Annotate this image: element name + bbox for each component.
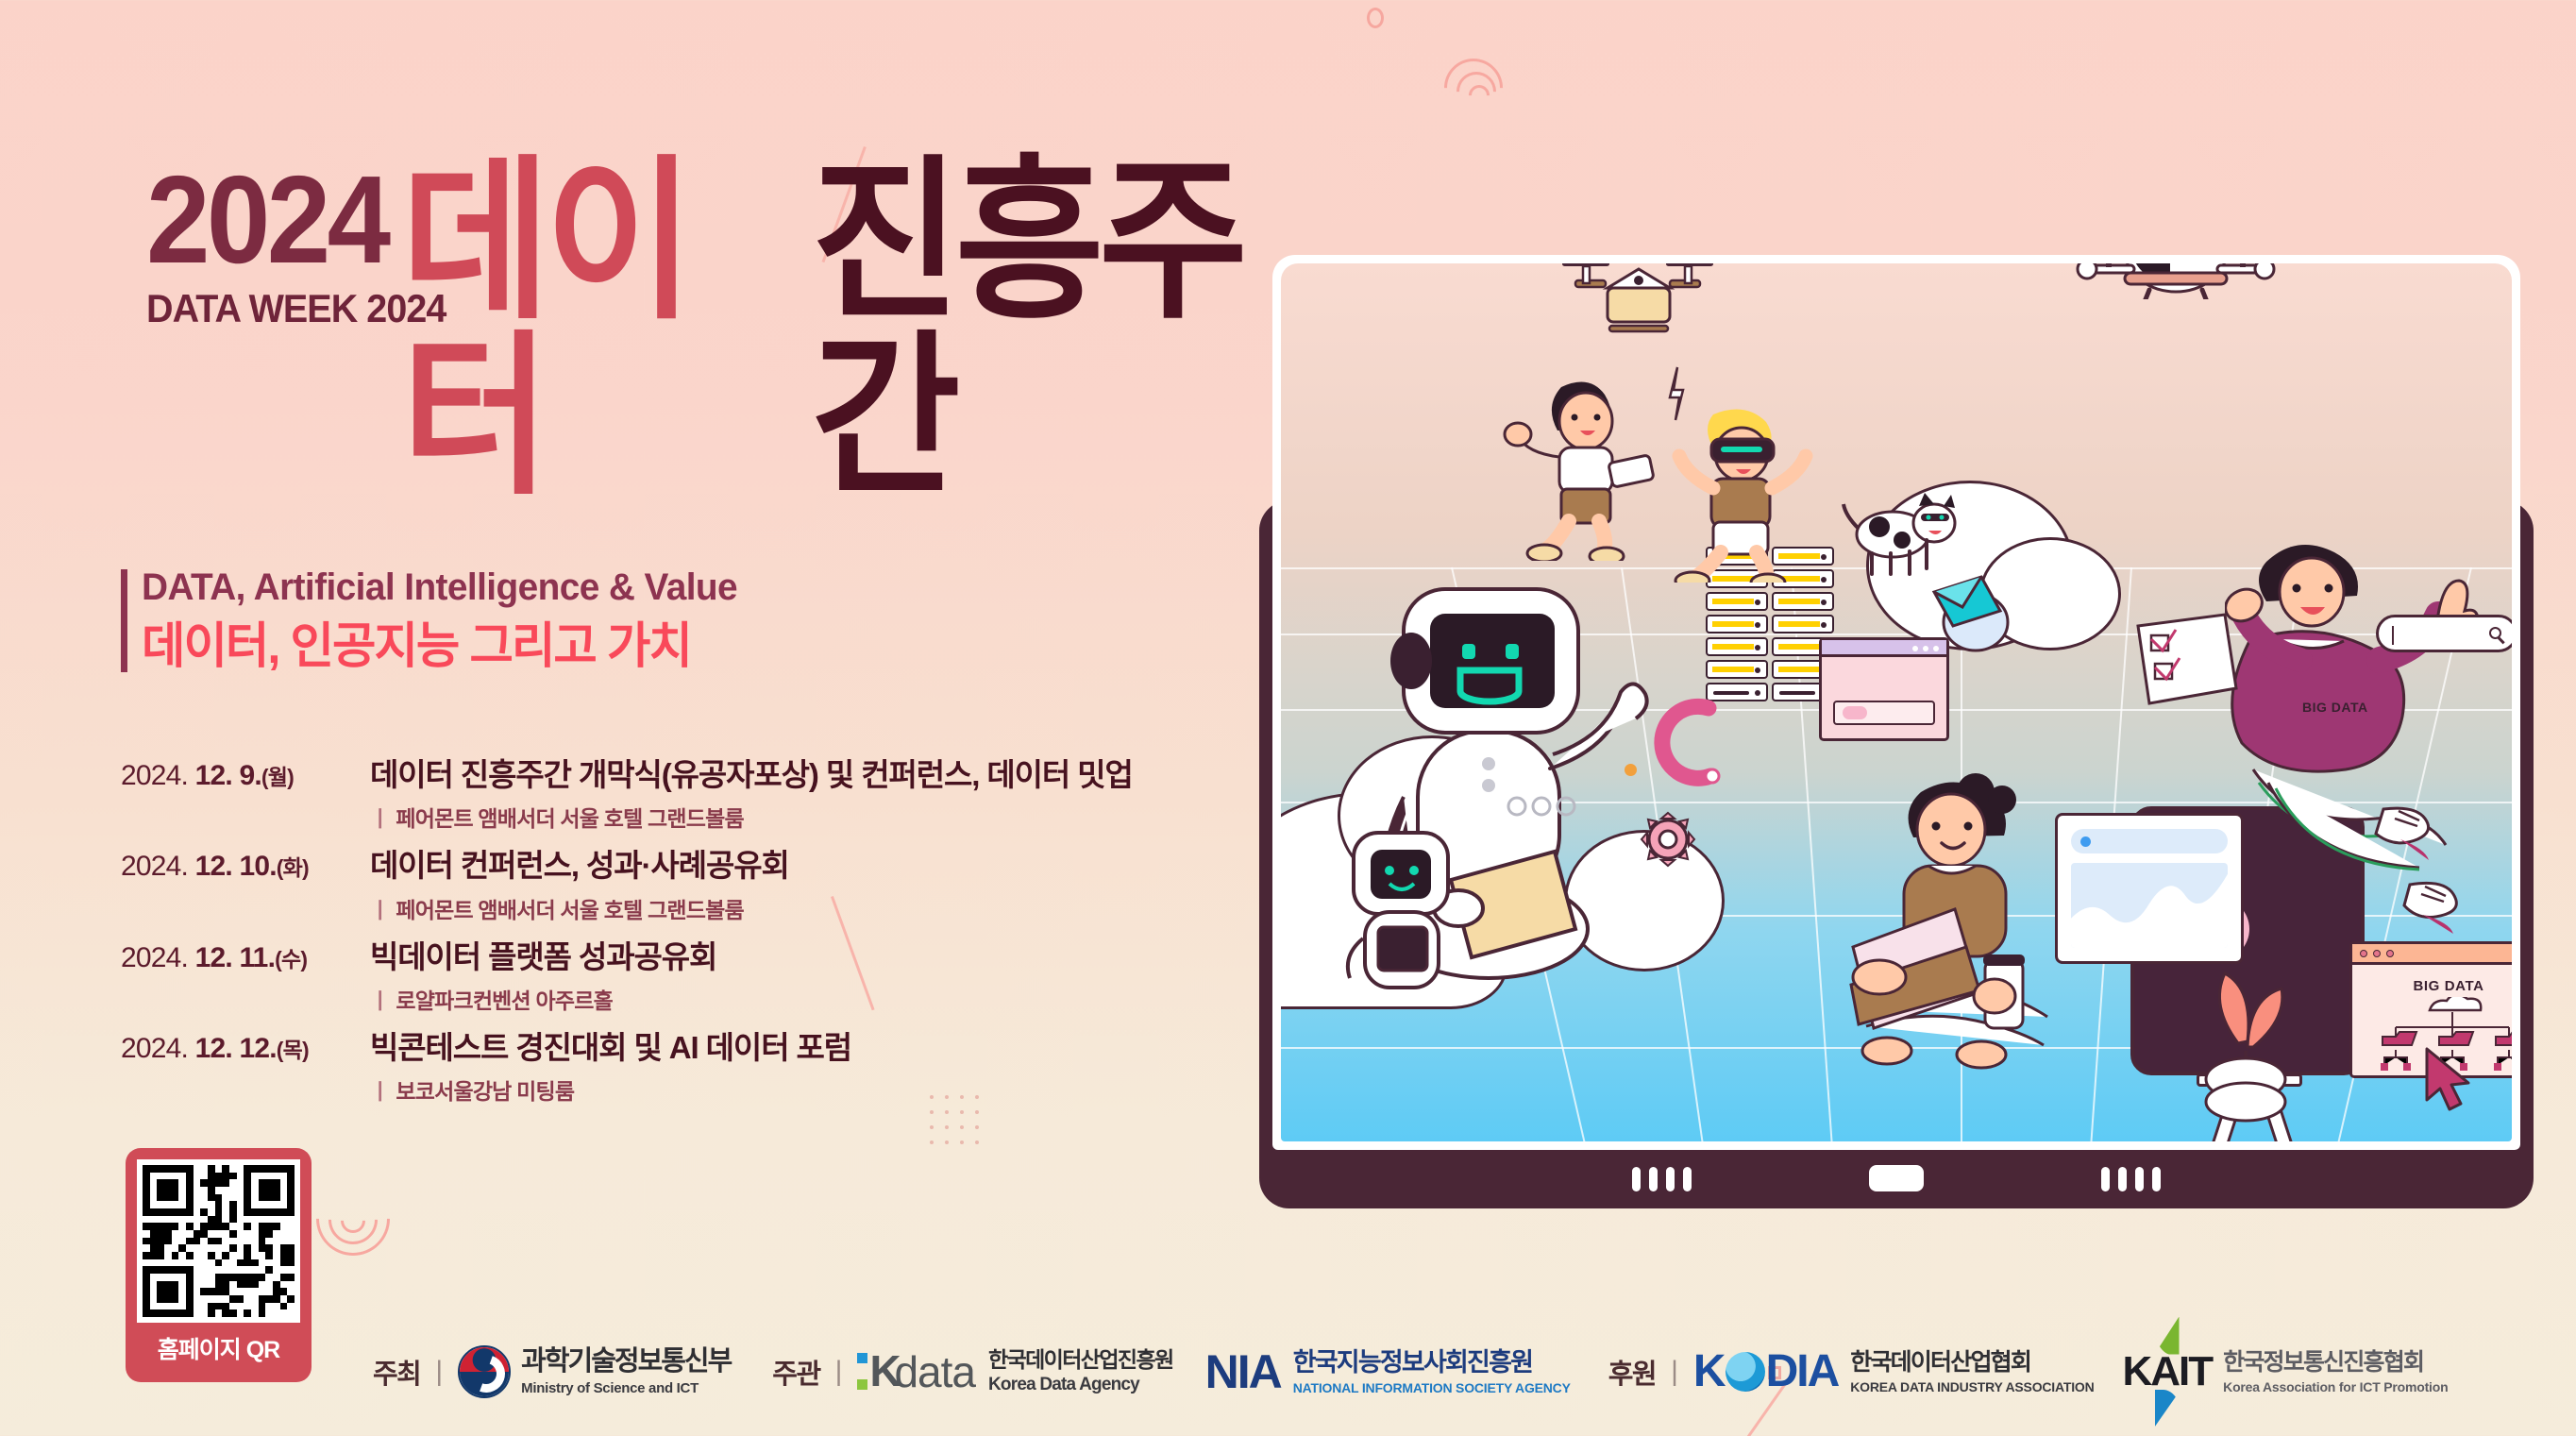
kdata-k-icon: K [857,1351,897,1393]
schedule-bar-glyph: ㅣ [370,898,389,922]
schedule-place-text: 로얄파크컨벤션 아주르홀 [396,988,613,1013]
search-icon [2489,627,2501,639]
schedule-row: 2024. 12. 10.(화) 데이터 컨퍼런스, 성과·사례공유회 ㅣ페어몬… [121,846,1133,923]
logo-kodia: K DIA [1693,1349,1838,1394]
schedule-body: 빅콘테스트 경진대회 및 AI 데이터 포럼 ㅣ보코서울강남 미팅룸 [370,1028,851,1106]
schedule-place-text: 페어몬트 앰배서더 서울 호텔 그랜드볼룸 [396,806,743,831]
line-chart-area [2071,863,2228,948]
logo-text: 과학기술정보통신부 Ministry of Science and ICT [521,1348,731,1396]
home-indicator [1869,1165,1924,1191]
schedule-row: 2024. 12. 12.(목) 빅콘테스트 경진대회 및 AI 데이터 포럼 … [121,1028,1133,1106]
logo-name-en: Ministry of Science and ICT [521,1380,731,1396]
small-robot-character [1333,825,1474,1005]
schedule-dayofweek: (월) [261,765,294,789]
illustration: BIG DATA [1236,0,2576,1350]
speaker-grill-left [1632,1167,1692,1191]
child-with-vr-headset [1658,403,1828,583]
window-search-field[interactable] [2071,829,2228,853]
schedule-list: 2024. 12. 9.(월) 데이터 진흥주간 개막식(유공자포상) 및 컨퍼… [121,755,1133,1119]
schedule-monthday: 12. 12. [188,1033,277,1064]
window-titlebar [2352,944,2512,965]
man-with-search-bar [2225,499,2512,943]
schedule-row: 2024. 12. 9.(월) 데이터 진흥주간 개막식(유공자포상) 및 컨퍼… [121,755,1133,833]
schedule-dayofweek: (수) [275,947,307,971]
logo-name-ko: 한국정보통신진흥협회 [2223,1351,2448,1375]
qr-code-block[interactable]: 홈페이지 QR [126,1148,311,1382]
schedule-place: ㅣ페어몬트 앰배서더 서울 호텔 그랜드볼룸 [370,801,1133,833]
footer-role-host: 주최 [373,1352,420,1392]
schedule-title: 데이터 컨퍼런스, 성과·사례공유회 [370,846,789,885]
schedule-monthday: 12. 10. [188,851,277,882]
schedule-place: ㅣ보코서울강남 미팅룸 [370,1073,851,1106]
tablet-device-frame: BIG DATA [1259,500,2534,1208]
shirt-label-bigdata: BIG DATA [2302,700,2368,715]
kait-mark: KAIT [2123,1351,2213,1393]
logo-name-ko: 한국지능정보사회진흥원 [1293,1350,1571,1376]
schedule-monthday: 12. 9. [188,760,261,791]
korean-title-week: 진흥주간 [811,154,1303,505]
schedule-row: 2024. 12. 11.(수) 빅데이터 플랫폼 성과공유회 ㅣ로얄파크컨벤션… [121,938,1133,1015]
wifi-drone [2072,263,2280,299]
qr-modules [143,1165,295,1317]
schedule-bar-glyph: ㅣ [370,988,389,1013]
schedule-title: 빅콘테스트 경진대회 및 AI 데이터 포럼 [370,1028,851,1067]
kodia-globe-icon [1726,1352,1765,1392]
checklist-paper [2130,611,2244,715]
left-content-column: 2024 DATA WEEK 2024 데이터 진흥주간 DATA, Artif… [0,0,1303,1436]
footer-role-sponsor: 후원 [1608,1352,1656,1392]
logo-text: 한국지능정보사회진흥원 NATIONAL INFORMATION SOCIETY… [1293,1350,1571,1394]
subtitle-block: DATA, Artificial Intelligence & Value 데이… [121,564,756,678]
logo-name-ko: 과학기술정보통신부 [521,1348,731,1376]
envelope-icon [1921,564,2025,658]
footer-separator: | [1671,1356,1678,1388]
chart-window[interactable] [2055,813,2244,964]
tablet-screen-bezel: BIG DATA [1272,255,2520,1150]
schedule-body: 데이터 컨퍼런스, 성과·사례공유회 ㅣ페어몬트 앰배서더 서울 호텔 그랜드볼… [370,846,789,923]
schedule-bar-glyph: ㅣ [370,1079,389,1104]
logo-kait: KAIT 한국정보통신진흥협회 Korea Association for IC… [2123,1351,2449,1394]
orange-dot-decor [1625,764,1637,776]
window-search-dot [2080,836,2091,847]
tablet-screen: BIG DATA [1281,263,2512,1141]
schedule-year: 2024. [121,942,188,973]
speaker-grill-right [2101,1167,2161,1191]
korean-title: 데이터 진흥주간 [401,154,1303,479]
bigdata-window-label: BIG DATA [2352,978,2512,994]
search-caret [2392,626,2394,645]
potted-plant [2187,953,2310,1123]
kdata-letter-k: K [869,1349,900,1393]
logo-text: 한국데이터산업진흥원 Korea Data Agency [988,1348,1173,1394]
line-chart-svg [2071,863,2228,948]
subtitle-korean: 데이터, 인공지능 그리고 가치 [142,617,737,678]
logo-name-en: Korea Data Agency [988,1376,1173,1395]
schedule-date: 2024. 12. 9.(월) [121,755,370,792]
kait-blue-swoosh-icon [2155,1390,2181,1428]
kodia-letters-dia: DIA [1766,1349,1839,1394]
logo-nia: NIA 한국지능정보사회진흥원 NATIONAL INFORMATION SOC… [1205,1348,1571,1395]
delivery-drone [1557,263,1717,360]
taegeuk-icon [458,1345,511,1398]
footer-organizer-group: 주관 | K data 한국데이터산업진흥원 Korea Data Agency [772,1348,1172,1394]
schedule-title: 데이터 진흥주간 개막식(유공자포상) 및 컨퍼런스, 데이터 밋업 [370,755,1133,794]
schedule-year: 2024. [121,1033,188,1064]
subtitle-english: DATA, Artificial Intelligence & Value [142,564,737,611]
schedule-place-text: 보코서울강남 미팅룸 [396,1079,574,1104]
kdata-word: data [894,1350,975,1394]
nia-mark: NIA [1205,1348,1281,1395]
schedule-year: 2024. [121,851,188,882]
gear-icon [1638,809,1698,870]
logo-name-en: NATIONAL INFORMATION SOCIETY AGENCY [1293,1381,1571,1394]
footer-host-group: 주최 | 과학기술정보통신부 Ministry of Science and I… [373,1345,731,1398]
logo-text: 한국데이터산업협회 KOREA DATA INDUSTRY ASSOCIATIO… [1850,1351,2094,1394]
child-with-tablet [1503,372,1663,561]
korean-title-data: 데이터 [401,154,769,505]
year-heading: 2024 [146,165,440,275]
schedule-place: ㅣ페어몬트 앰배서더 서울 호텔 그랜드볼룸 [370,892,789,924]
logo-name-en: KOREA DATA INDUSTRY ASSOCIATION [1850,1380,2094,1394]
schedule-date: 2024. 12. 10.(화) [121,846,370,883]
mouse-cursor-icon[interactable] [2421,1047,2474,1115]
logo-name-en: Korea Association for ICT Promotion [2223,1380,2448,1394]
schedule-place: ㅣ로얄파크컨벤션 아주르홀 [370,983,716,1015]
qr-code-image[interactable] [137,1159,300,1323]
schedule-year: 2024. [121,760,188,791]
schedule-place-text: 페어몬트 앰배서더 서울 호텔 그랜드볼룸 [396,898,743,922]
kodia-letter-k: K [1693,1349,1725,1394]
schedule-dayofweek: (목) [277,1038,309,1062]
schedule-dayofweek: (화) [277,855,309,880]
search-bar-illustration[interactable] [2376,615,2512,652]
footer-separator: | [835,1356,843,1388]
footer-sponsor-group: 후원 | K DIA 한국데이터산업협회 KOREA DATA INDUSTRY… [1608,1349,2095,1394]
logo-name-ko: 한국데이터산업진흥원 [988,1348,1173,1372]
schedule-date: 2024. 12. 12.(목) [121,1028,370,1065]
schedule-body: 데이터 진흥주간 개막식(유공자포상) 및 컨퍼런스, 데이터 밋업 ㅣ페어몬트… [370,755,1133,833]
schedule-monthday: 12. 11. [188,942,275,973]
footer-separator: | [435,1356,443,1388]
schedule-bar-glyph: ㅣ [370,806,389,831]
pink-window-pill [1843,706,1867,719]
qr-label: 홈페이지 QR [137,1331,300,1365]
spark-icon [1658,365,1696,422]
schedule-body: 빅데이터 플랫폼 성과공유회 ㅣ로얄파크컨벤션 아주르홀 [370,938,716,1015]
logo-text: 한국정보통신진흥협회 Korea Association for ICT Pro… [2223,1351,2448,1394]
logo-kdata: K data 한국데이터산업진흥원 Korea Data Agency [857,1348,1172,1394]
logo-ministry-of-science-ict: 과학기술정보통신부 Ministry of Science and ICT [458,1345,731,1398]
schedule-title: 빅데이터 플랫폼 성과공유회 [370,938,716,976]
pink-arc-decor [1654,693,1729,797]
schedule-date: 2024. 12. 11.(수) [121,938,370,974]
footer-role-organizer: 주관 [772,1352,819,1392]
logo-name-ko: 한국데이터산업협회 [1850,1351,2094,1375]
kdata-square-green [857,1379,867,1390]
kdata-square-blue [857,1353,867,1363]
